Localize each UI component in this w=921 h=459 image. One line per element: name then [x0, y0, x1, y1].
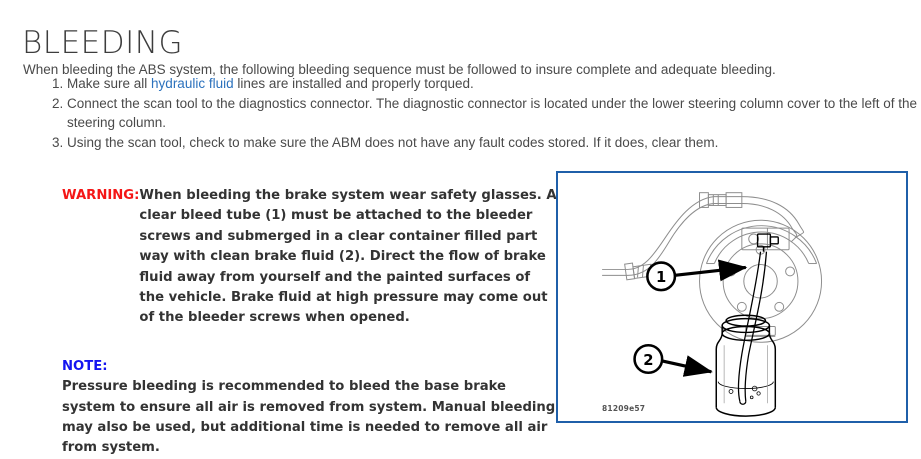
bleeder-screw-fitting — [758, 234, 779, 252]
warning-label: WARNING: — [62, 186, 139, 206]
step-text-before-link: Make sure all — [67, 76, 151, 91]
brake-hose — [602, 193, 804, 280]
step-text: Connect the scan tool to the diagnostics… — [67, 96, 917, 131]
page-title: BLEEDING — [22, 25, 183, 61]
step-text: Using the scan tool, check to make sure … — [67, 135, 718, 150]
callout-2: 2 — [635, 345, 712, 373]
callout-2-number: 2 — [643, 352, 653, 369]
warning-callout: WARNING: When bleeding the brake system … — [62, 186, 557, 329]
warning-text: When bleeding the brake system wear safe… — [139, 186, 557, 329]
callout-1-number: 1 — [656, 269, 666, 286]
hydraulic-fluid-link[interactable]: hydraulic fluid — [151, 76, 234, 91]
list-item: Make sure all hydraulic fluid lines are … — [67, 74, 921, 94]
list-item: Connect the scan tool to the diagnostics… — [67, 94, 921, 133]
figure-box: 1 2 81209e57 — [556, 171, 908, 423]
step-text-after-link: lines are installed and properly torqued… — [234, 76, 474, 91]
callout-column: WARNING: When bleeding the brake system … — [62, 186, 557, 459]
bleeding-steps-list: Make sure all hydraulic fluid lines are … — [40, 74, 921, 152]
bleeding-diagram: 1 2 — [558, 173, 906, 421]
list-item: Using the scan tool, check to make sure … — [67, 133, 921, 153]
note-label: NOTE: — [62, 357, 562, 377]
note-callout: NOTE: Pressure bleeding is recommended t… — [62, 357, 562, 459]
figure-id-label: 81209e57 — [602, 404, 645, 413]
note-text: Pressure bleeding is recommended to blee… — [62, 377, 562, 459]
